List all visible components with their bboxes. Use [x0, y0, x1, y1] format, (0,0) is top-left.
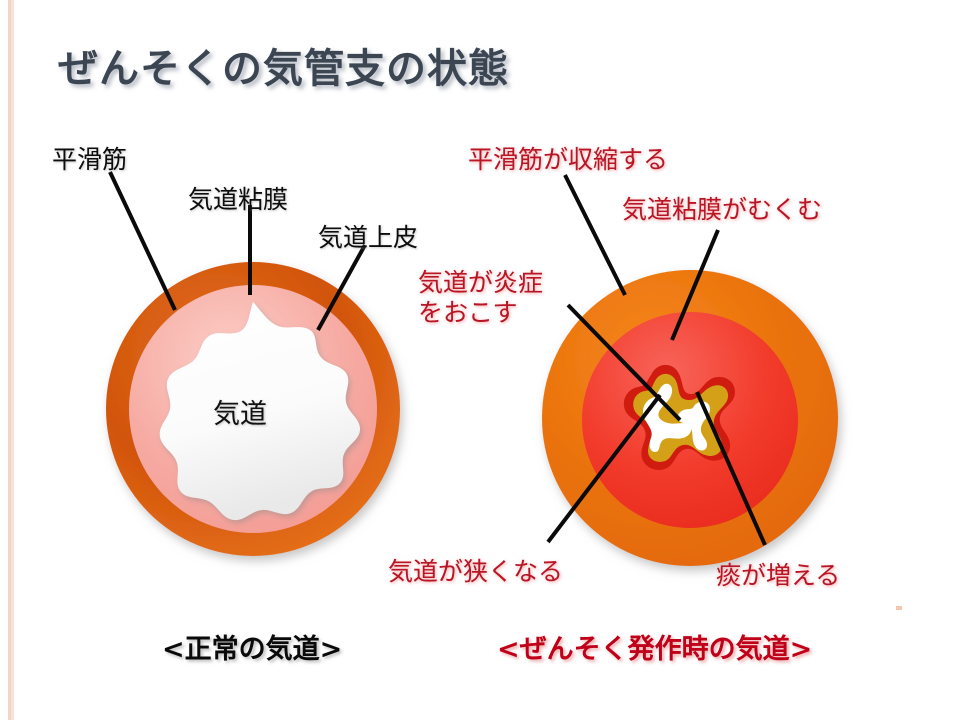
leader-line-muscle-contraction [565, 175, 625, 295]
label-airway-mucosa: 気道粘膜 [188, 180, 288, 216]
bronchial-cross-section-diagram [0, 0, 960, 720]
label-mucosa-swelling: 気道粘膜がむくむ [622, 190, 822, 226]
leader-line-smooth-muscle [110, 172, 175, 310]
label-smooth-muscle: 平滑筋 [52, 140, 127, 176]
asthma-airway-figure [542, 175, 838, 566]
label-airway-epithelium: 気道上皮 [318, 218, 418, 254]
normal-lumen-label: 気道 [213, 392, 267, 431]
label-narrow-lumen: 気道が狭くなる [388, 552, 563, 588]
caption-normal-airway: <正常の気道> [162, 627, 342, 666]
label-inflammation: 気道が炎症 をおこす [418, 268, 543, 327]
slide-canvas: ぜんそくの気管支の状態 [0, 0, 960, 720]
label-muscle-contraction: 平滑筋が収縮する [468, 140, 668, 176]
caption-asthma-airway: <ぜんそく発作時の気道> [497, 627, 812, 666]
label-increased-mucus: 痰が増える [716, 556, 840, 592]
